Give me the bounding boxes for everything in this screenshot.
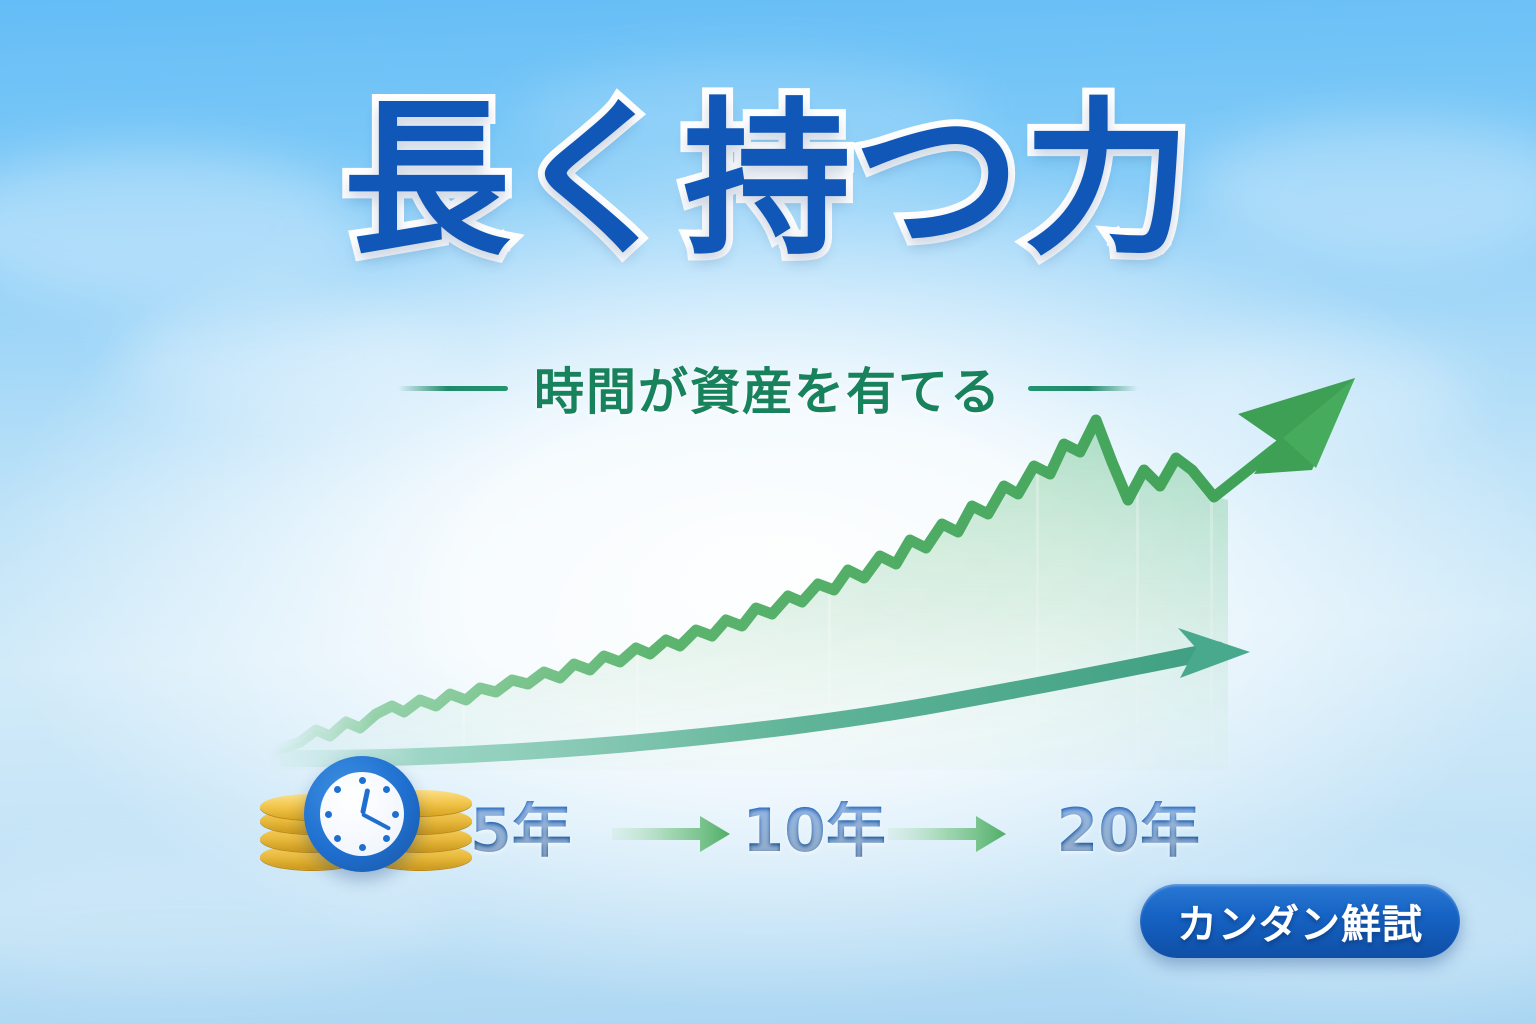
timeline-arrow-1-spacer (582, 808, 732, 854)
divider-left (398, 386, 508, 391)
divider-right (1028, 386, 1138, 391)
average-arrow-head-icon (1178, 628, 1250, 678)
milestone-10-years: 10年 (742, 801, 886, 861)
chart-area-fill (280, 420, 1228, 770)
page-title: 長く持つ力 (343, 96, 1193, 264)
clock-face (320, 772, 404, 856)
average-growth-curve (268, 650, 1218, 758)
growth-line (272, 420, 1296, 752)
analog-clock-icon (304, 756, 420, 872)
title-block: 長く持つ力 (0, 96, 1536, 264)
clock-hour-hand (360, 788, 370, 814)
chart-vertical-bands (462, 468, 1213, 776)
milestone-20-years: 20年 (1057, 801, 1201, 861)
clock-and-coins-illustration (252, 752, 482, 872)
poster-canvas: 長く持つ力 時間が資産を有てる (0, 0, 1536, 1024)
timeline-arrow-2-spacer (896, 808, 1046, 854)
cloud-wisp (0, 854, 440, 984)
clock-minute-hand (361, 812, 391, 831)
page-subtitle: 時間が資産を有てる (534, 352, 1002, 424)
timeline-milestones: 5年 10年 20年 (470, 786, 1200, 876)
subtitle-block: 時間が資産を有てる (0, 352, 1536, 424)
brand-badge-label: カンダン鮮試 (1177, 892, 1423, 950)
milestone-5-years: 5年 (470, 801, 572, 861)
brand-badge[interactable]: カンダン鮮試 (1140, 884, 1460, 958)
